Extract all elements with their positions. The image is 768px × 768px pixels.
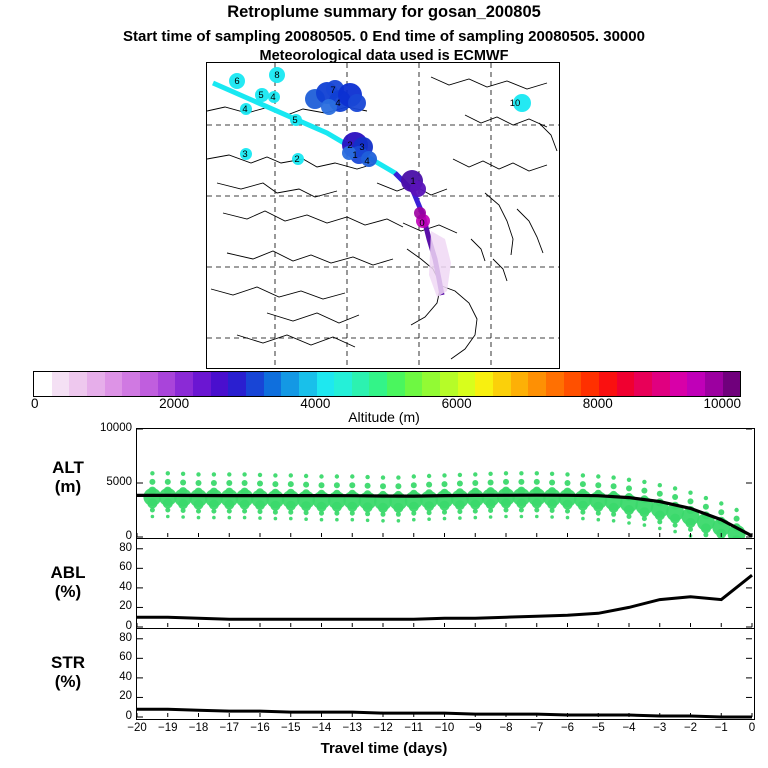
- altitude-bubble: [718, 509, 724, 515]
- y-axis-tick-label: 60: [72, 561, 132, 573]
- altitude-bubble: [502, 487, 510, 495]
- altitude-bubble: [442, 510, 447, 515]
- altitude-bubble: [424, 501, 434, 511]
- colorbar-swatch: [264, 372, 282, 396]
- altitude-bubble: [533, 487, 541, 495]
- altitude-bubble: [273, 510, 278, 515]
- colorbar-swatch: [634, 372, 652, 396]
- altitude-bubble: [166, 471, 170, 475]
- retroplume-map: 685447453223141010: [206, 62, 560, 369]
- altitude-bubble: [317, 502, 327, 512]
- altitude-bubble: [180, 480, 186, 486]
- map-altitude-label: 6: [234, 76, 239, 87]
- colorbar-swatch: [723, 372, 741, 396]
- colorbar-swatch: [211, 372, 229, 396]
- map-altitude-label: 5: [292, 115, 297, 126]
- altitude-bubble: [642, 516, 647, 521]
- altitude-bubble: [516, 499, 526, 509]
- y-axis-tick-label: 80: [72, 632, 132, 644]
- altitude-bubble: [258, 473, 262, 477]
- altitude-bubble: [472, 480, 478, 486]
- altitude-bubble: [319, 474, 323, 478]
- altitude-bubble: [427, 517, 431, 521]
- altitude-bubble: [442, 473, 446, 477]
- altitude-bubble: [320, 518, 324, 522]
- altitude-bubble: [381, 512, 386, 517]
- colorbar-swatch: [458, 372, 476, 396]
- colorbar-swatch: [334, 372, 352, 396]
- y-axis-tick-label: 10000: [72, 422, 132, 434]
- altitude-bubble: [701, 523, 711, 533]
- altitude-bubble: [532, 499, 542, 509]
- altitude-bubble: [257, 481, 263, 487]
- altitude-colorbar: [33, 371, 741, 397]
- colorbar-swatch: [52, 372, 70, 396]
- altitude-bubble: [365, 511, 370, 516]
- altitude-bubble: [504, 515, 508, 519]
- altitude-bubble: [488, 508, 493, 513]
- abl-chart-panel: [136, 538, 755, 630]
- altitude-bubble: [273, 473, 277, 477]
- x-axis-tick-label: 0: [732, 722, 768, 734]
- altitude-bubble: [351, 518, 355, 522]
- altitude-bubble: [334, 511, 339, 516]
- y-axis-tick-label: 40: [72, 671, 132, 683]
- altitude-bubble: [686, 518, 696, 528]
- altitude-bubble: [274, 517, 278, 521]
- colorbar-swatch: [299, 372, 317, 396]
- altitude-bubble: [335, 474, 339, 478]
- altitude-bubble: [164, 487, 172, 495]
- altitude-bubble: [226, 480, 232, 486]
- altitude-bubble: [455, 500, 465, 510]
- altitude-bubble: [565, 472, 569, 476]
- altitude-bubble: [547, 499, 557, 509]
- altitude-bubble: [641, 488, 647, 494]
- altitude-bubble: [335, 518, 339, 522]
- colorbar-swatch: [193, 372, 211, 396]
- colorbar-swatch: [158, 372, 176, 396]
- colorbar-swatch: [352, 372, 370, 396]
- altitude-bubble: [151, 515, 155, 519]
- altitude-bubble: [147, 499, 157, 509]
- altitude-bubble: [643, 523, 647, 527]
- altitude-bubble: [519, 471, 523, 475]
- colorbar-swatch: [652, 372, 670, 396]
- altitude-bubble: [488, 480, 494, 486]
- y-axis-tick-label: 0: [72, 530, 132, 542]
- colorbar-swatch: [564, 372, 582, 396]
- altitude-bubble: [534, 479, 540, 485]
- altitude-bubble: [194, 500, 204, 510]
- altitude-bubble: [688, 491, 692, 495]
- data-line: [137, 575, 752, 619]
- altitude-bubble: [581, 517, 585, 521]
- altitude-bubble: [473, 472, 477, 476]
- altitude-bubble: [211, 509, 216, 514]
- y-axis-tick-label: 40: [72, 581, 132, 593]
- map-altitude-label: 8: [274, 70, 279, 81]
- altitude-bubble: [672, 494, 678, 500]
- altitude-bubble: [520, 515, 524, 519]
- altitude-bubble: [289, 517, 293, 521]
- colorbar-swatch: [528, 372, 546, 396]
- colorbar-swatch: [687, 372, 705, 396]
- altitude-bubble: [411, 511, 416, 516]
- altitude-bubble: [627, 514, 632, 519]
- altitude-bubble: [228, 516, 232, 520]
- colorbar-swatch: [140, 372, 158, 396]
- altitude-bubble: [627, 521, 631, 525]
- alt-label-line1: ALT: [8, 458, 128, 477]
- altitude-bubble: [181, 472, 185, 476]
- colorbar-swatch: [599, 372, 617, 396]
- colorbar-swatch: [511, 372, 529, 396]
- altitude-bubble: [301, 501, 311, 511]
- altitude-bubble: [489, 515, 493, 519]
- altitude-bubble: [501, 499, 511, 509]
- map-altitude-label: 1: [410, 176, 415, 187]
- altitude-bubble: [196, 480, 202, 486]
- altitude-bubble: [319, 482, 325, 488]
- altitude-bubble: [566, 516, 570, 520]
- map-altitude-label: 4: [270, 92, 275, 103]
- altitude-bubble: [519, 508, 524, 513]
- y-axis-tick-label: 0: [72, 710, 132, 722]
- altitude-bubble: [488, 472, 492, 476]
- altitude-bubble: [258, 509, 263, 514]
- y-axis-tick-label: 20: [72, 600, 132, 612]
- map-altitude-label: 2: [294, 154, 299, 165]
- altitude-bubble: [580, 510, 585, 515]
- altitude-bubble: [658, 483, 662, 487]
- map-altitude-label: 10: [510, 98, 521, 109]
- y-axis-tick-label: 60: [72, 651, 132, 663]
- altitude-bubble: [597, 518, 601, 522]
- altitude-bubble: [440, 501, 450, 511]
- altitude-bubble: [319, 511, 324, 516]
- altitude-bubble: [563, 500, 573, 510]
- altitude-bubble: [365, 483, 371, 489]
- altitude-bubble: [609, 503, 619, 513]
- altitude-bubble: [227, 472, 231, 476]
- altitude-bubble: [504, 471, 508, 475]
- altitude-bubble: [334, 482, 340, 488]
- altitude-bubble: [381, 475, 385, 479]
- altitude-bubble: [412, 474, 416, 478]
- altitude-bubble: [196, 472, 200, 476]
- altitude-bubble: [703, 532, 708, 537]
- altitude-bubble: [596, 511, 601, 516]
- altitude-bubble: [473, 509, 478, 514]
- colorbar-swatch: [369, 372, 387, 396]
- altitude-bubble: [580, 481, 586, 487]
- altitude-bubble: [240, 500, 250, 510]
- altitude-bubble: [535, 515, 539, 519]
- altitude-bubble: [673, 486, 677, 490]
- altitude-bubble: [670, 514, 680, 524]
- altitude-bubble: [486, 499, 496, 509]
- altitude-bubble: [673, 530, 677, 534]
- altitude-bubble: [363, 502, 373, 512]
- altitude-bubble: [458, 516, 462, 520]
- map-altitude-label: 4: [364, 156, 369, 167]
- altitude-bubble: [719, 501, 723, 505]
- altitude-bubble: [688, 498, 694, 504]
- str-chart-panel: [136, 628, 755, 720]
- altitude-bubble: [458, 473, 462, 477]
- altitude-bubble: [734, 516, 740, 522]
- altitude-bubble: [242, 509, 247, 514]
- colorbar-swatch: [617, 372, 635, 396]
- altitude-bubble: [503, 479, 509, 485]
- altitude-bubble: [212, 516, 216, 520]
- altitude-bubble: [412, 518, 416, 522]
- altitude-bubble: [181, 515, 185, 519]
- colorbar-swatch: [440, 372, 458, 396]
- colorbar-swatch: [581, 372, 599, 396]
- altitude-bubble: [393, 503, 403, 513]
- altitude-bubble: [396, 475, 400, 479]
- altitude-bubble: [426, 482, 432, 488]
- altitude-bubble: [181, 508, 186, 513]
- map-altitude-label: 4: [242, 104, 247, 115]
- altitude-bubble: [150, 508, 155, 513]
- altitude-bubble: [365, 475, 369, 479]
- y-axis-tick-label: 5000: [72, 476, 132, 488]
- altitude-bubble: [627, 478, 631, 482]
- altitude-bubble: [209, 500, 219, 510]
- altitude-bubble: [288, 510, 293, 515]
- colorbar-swatch: [422, 372, 440, 396]
- colorbar-swatch: [317, 372, 335, 396]
- colorbar-swatch: [246, 372, 264, 396]
- altitude-bubble: [611, 512, 616, 517]
- altitude-bubble: [350, 511, 355, 516]
- altitude-bubble: [427, 510, 432, 515]
- colorbar-swatch: [405, 372, 423, 396]
- altitude-bubble: [517, 487, 525, 495]
- altitude-bubble: [549, 480, 555, 486]
- altitude-bubble: [550, 515, 554, 519]
- colorbar-swatch: [387, 372, 405, 396]
- altitude-bubble: [470, 500, 480, 510]
- altitude-bubble: [378, 503, 388, 513]
- map-altitude-label: 4: [335, 98, 340, 109]
- altitude-bubble: [642, 480, 646, 484]
- colorbar-swatch: [175, 372, 193, 396]
- colorbar-swatch: [105, 372, 123, 396]
- altitude-bubble: [704, 496, 708, 500]
- map-altitude-label: 3: [359, 142, 364, 153]
- altitude-bubble: [657, 519, 662, 524]
- altitude-bubble: [178, 499, 188, 509]
- altitude-bubble: [409, 502, 419, 512]
- altitude-bubble: [242, 472, 246, 476]
- altitude-bubble: [165, 479, 171, 485]
- altitude-bubble: [224, 500, 234, 510]
- altitude-bubble: [578, 501, 588, 511]
- altitude-bubble: [304, 510, 309, 515]
- altitude-bubble: [657, 491, 663, 497]
- colorbar-swatch: [69, 372, 87, 396]
- altitude-bubble: [626, 485, 632, 491]
- altitude-bubble: [734, 508, 738, 512]
- altitude-bubble: [242, 480, 248, 486]
- altitude-bubble: [612, 519, 616, 523]
- altitude-bubble: [163, 499, 173, 509]
- altitude-bubble: [211, 480, 217, 486]
- colorbar-swatch: [475, 372, 493, 396]
- altitude-bubble: [165, 508, 170, 513]
- altitude-bubble: [303, 482, 309, 488]
- altitude-bubble: [565, 509, 570, 514]
- altitude-bubble: [565, 480, 571, 486]
- altitude-bubble: [255, 500, 265, 510]
- altitude-bubble: [655, 510, 665, 520]
- altitude-bubble: [581, 473, 585, 477]
- altitude-bubble: [624, 505, 634, 515]
- colorbar-swatch: [228, 372, 246, 396]
- altitude-bubble: [658, 527, 662, 531]
- colorbar-swatch: [493, 372, 511, 396]
- altitude-bubble: [518, 479, 524, 485]
- altitude-bubble: [457, 509, 462, 514]
- altitude-bubble: [550, 508, 555, 513]
- altitude-bubble: [347, 502, 357, 512]
- altitude-bubble: [593, 502, 603, 512]
- altitude-bubble: [443, 517, 447, 521]
- colorbar-swatch: [87, 372, 105, 396]
- altitude-bubble: [534, 508, 539, 513]
- colorbar-swatch: [670, 372, 688, 396]
- altitude-bubble: [350, 474, 354, 478]
- altitude-bubble: [457, 481, 463, 487]
- altitude-bubble: [595, 482, 601, 488]
- altitude-bubble: [258, 516, 262, 520]
- altitude-bubble: [380, 483, 386, 489]
- sampling-time-subtitle: Start time of sampling 20080505. 0 End t…: [0, 28, 768, 45]
- colorbar-swatch: [546, 372, 564, 396]
- altitude-bubble: [395, 483, 401, 489]
- altitude-bubble: [474, 516, 478, 520]
- page-title: Retroplume summary for gosan_200805: [0, 3, 768, 22]
- altitude-bubble: [288, 481, 294, 487]
- altitude-bubble: [688, 527, 693, 532]
- altitude-bubble: [212, 472, 216, 476]
- altitude-bubble: [286, 501, 296, 511]
- altitude-bubble: [611, 483, 617, 489]
- altitude-bubble: [196, 509, 201, 514]
- map-altitude-label: 3: [242, 149, 247, 160]
- map-altitude-label: 0: [419, 218, 424, 229]
- altitude-bubble: [397, 519, 401, 523]
- map-altitude-label: 5: [258, 90, 263, 101]
- altitude-bubble: [349, 482, 355, 488]
- x-axis-title: Travel time (days): [0, 740, 768, 757]
- altitude-bubble: [270, 501, 280, 511]
- altitude-bubble: [535, 471, 539, 475]
- altitude-bubble: [166, 515, 170, 519]
- altitude-bubble: [442, 481, 448, 487]
- altitude-bubble: [639, 507, 649, 517]
- colorbar-swatch: [705, 372, 723, 396]
- altitude-bubble: [550, 472, 554, 476]
- altitude-bubble: [332, 502, 342, 512]
- alt-chart-panel: [136, 428, 755, 540]
- altitude-bubble: [366, 519, 370, 523]
- y-axis-tick-label: 80: [72, 542, 132, 554]
- altitude-bubble: [703, 504, 709, 510]
- y-axis-tick-label: 0: [72, 620, 132, 632]
- altitude-bubble: [504, 508, 509, 513]
- altitude-bubble: [243, 516, 247, 520]
- altitude-bubble: [304, 517, 308, 521]
- altitude-bubble: [227, 509, 232, 514]
- colorbar-swatch: [34, 372, 52, 396]
- altitude-bubble: [149, 479, 155, 485]
- altitude-bubble: [289, 473, 293, 477]
- altitude-bubble: [596, 474, 600, 478]
- altitude-bubble: [272, 481, 278, 487]
- y-axis-tick-label: 20: [72, 690, 132, 702]
- altitude-bubble: [150, 471, 154, 475]
- map-altitude-label: 1: [352, 150, 357, 161]
- colorbar-swatch: [122, 372, 140, 396]
- altitude-bubble: [148, 487, 156, 495]
- altitude-bubble: [673, 523, 678, 528]
- colorbar-swatch: [281, 372, 299, 396]
- altitude-bubble: [381, 519, 385, 523]
- altitude-bubble: [427, 474, 431, 478]
- altitude-bubble: [304, 474, 308, 478]
- altitude-bubble: [611, 475, 615, 479]
- altitude-bubble: [396, 512, 401, 517]
- map-altitude-label: 7: [330, 85, 335, 96]
- altitude-bubble: [197, 516, 201, 520]
- altitude-bubble: [411, 482, 417, 488]
